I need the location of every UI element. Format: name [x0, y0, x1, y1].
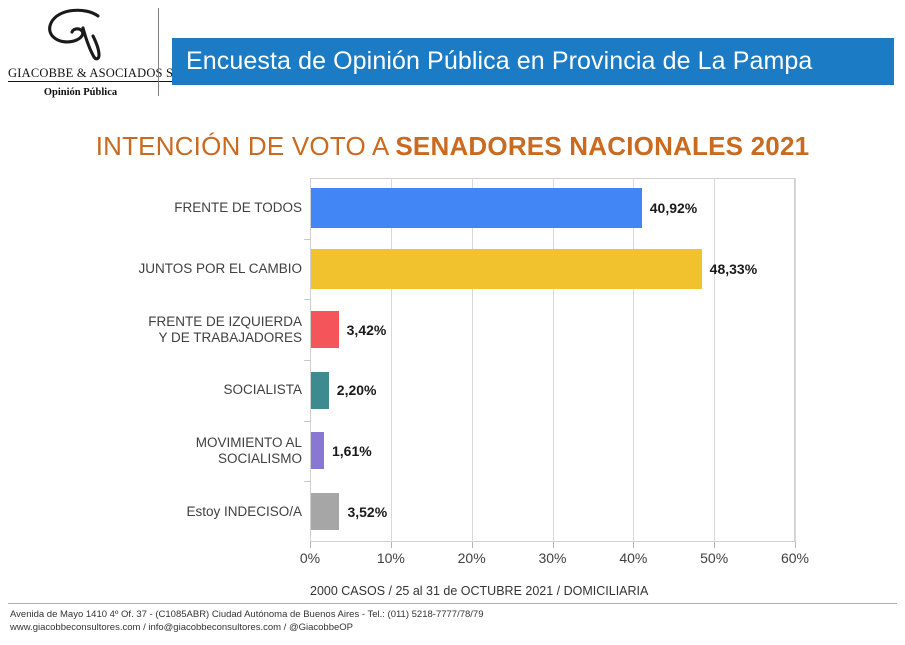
footer-divider: [8, 603, 897, 604]
axis-tick: [714, 542, 715, 548]
bar-value-label: 1,61%: [332, 444, 372, 458]
bar-category-label: FRENTE DE IZQUIERDA Y DE TRABAJADORES: [72, 299, 302, 360]
company-logo: GIACOBBE & ASOCIADOS S.A. Opinión Públic…: [8, 6, 153, 106]
bar-value-label: 48,33%: [710, 262, 757, 276]
bar: [311, 188, 642, 228]
footer-address-line: Avenida de Mayo 1410 4º Of. 37 - (C1085A…: [10, 609, 484, 622]
axis-tick-label: 50%: [700, 550, 728, 566]
category-tick: [304, 421, 311, 422]
bar-row: JUNTOS POR EL CAMBIO48,33%: [0, 239, 905, 300]
bar-value-label: 40,92%: [650, 201, 697, 215]
logo-company-name: GIACOBBE & ASOCIADOS S.A.: [8, 66, 189, 82]
axis-tick: [472, 542, 473, 548]
axis-tick-label: 20%: [458, 550, 486, 566]
x-axis: 0%10%20%30%40%50%60%: [310, 542, 795, 572]
bar-category-label: SOCIALISTA: [72, 360, 302, 421]
chart-title: INTENCIÓN DE VOTO A SENADORES NACIONALES…: [0, 131, 905, 162]
category-tick: [304, 239, 311, 240]
axis-tick: [310, 542, 311, 548]
axis-tick: [633, 542, 634, 548]
bar-category-label: JUNTOS POR EL CAMBIO: [72, 239, 302, 300]
bar-chart: FRENTE DE TODOS40,92%JUNTOS POR EL CAMBI…: [0, 178, 905, 578]
bar-row: MOVIMIENTO AL SOCIALISMO1,61%: [0, 421, 905, 482]
bar-rows: FRENTE DE TODOS40,92%JUNTOS POR EL CAMBI…: [0, 178, 905, 542]
bar-category-label: Estoy INDECISO/A: [72, 481, 302, 542]
axis-tick: [553, 542, 554, 548]
bar-category-label: FRENTE DE TODOS: [72, 178, 302, 239]
axis-tick-label: 30%: [538, 550, 566, 566]
header-divider: [158, 8, 159, 96]
category-tick: [304, 481, 311, 482]
logo-tagline: Opinión Pública: [8, 87, 153, 98]
axis-tick-label: 60%: [781, 550, 809, 566]
bar-row: Estoy INDECISO/A3,52%: [0, 481, 905, 542]
axis-tick-label: 0%: [300, 550, 320, 566]
chart-title-prefix: INTENCIÓN DE VOTO A: [96, 131, 396, 161]
axis-tick-label: 40%: [619, 550, 647, 566]
axis-tick-label: 10%: [377, 550, 405, 566]
bar-value-label: 2,20%: [337, 383, 377, 397]
bar: [311, 372, 329, 409]
bar-row: FRENTE DE TODOS40,92%: [0, 178, 905, 239]
axis-tick: [391, 542, 392, 548]
axis-tick: [795, 542, 796, 548]
giacobbe-swirl-icon: [8, 6, 153, 64]
bar: [311, 493, 339, 530]
footer-web-line: www.giacobbeconsultores.com / info@giaco…: [10, 622, 484, 635]
banner-title-text: Encuesta de Opinión Pública en Provincia…: [172, 38, 894, 85]
category-tick: [304, 360, 311, 361]
bar-value-label: 3,42%: [347, 323, 387, 337]
bar: [311, 311, 339, 348]
bar-row: FRENTE DE IZQUIERDA Y DE TRABAJADORES3,4…: [0, 299, 905, 360]
category-tick: [304, 299, 311, 300]
bar: [311, 432, 324, 469]
page-header: GIACOBBE & ASOCIADOS S.A. Opinión Públic…: [0, 0, 905, 118]
bar-category-label: MOVIMIENTO AL SOCIALISMO: [72, 421, 302, 482]
bar-value-label: 3,52%: [347, 505, 387, 519]
bar-row: SOCIALISTA2,20%: [0, 360, 905, 421]
footer-contact: Avenida de Mayo 1410 4º Of. 37 - (C1085A…: [10, 609, 484, 634]
chart-title-emphasis: SENADORES NACIONALES 2021: [395, 131, 809, 161]
bar: [311, 249, 702, 289]
title-banner: Encuesta de Opinión Pública en Provincia…: [172, 38, 894, 85]
chart-footnote: 2000 CASOS / 25 al 31 de OCTUBRE 2021 / …: [310, 584, 648, 598]
